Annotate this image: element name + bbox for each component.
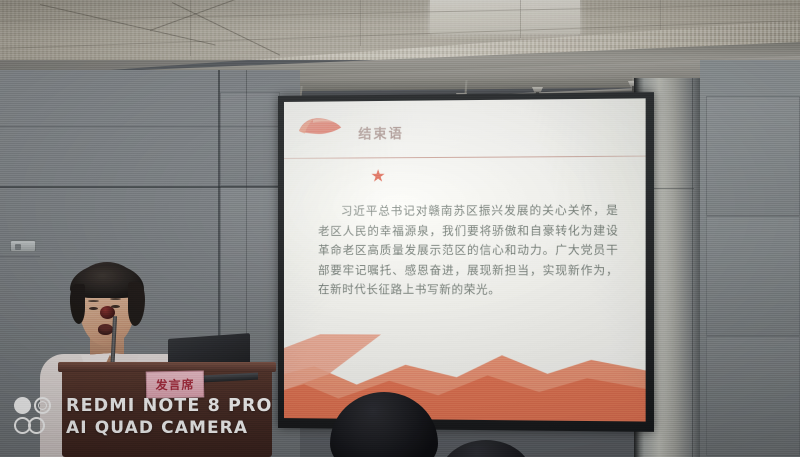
name-plate-text: 发言席: [155, 376, 194, 394]
slide-decoration-mountains: [284, 314, 646, 422]
wall-panel: [706, 336, 800, 456]
wall-seam: [0, 256, 40, 257]
quad-camera-lenses-icon: [14, 397, 56, 439]
speaker-eyebrow-right: [110, 298, 121, 300]
pillar-seam: [692, 78, 693, 457]
speaker-eye-left: [89, 307, 98, 310]
microphone-icon: [100, 306, 115, 319]
slide-paragraph: 习近平总书记对赣南苏区振兴发展的关心关怀，是老区人民的幸福源泉，我们要将骄傲和自…: [318, 201, 618, 301]
speaker-hair-side-left: [70, 284, 85, 324]
ceiling-tile-line: [660, 0, 661, 30]
projection-screen: 结束语 ★ 习近平总书记对赣南苏区振兴发展的关心关怀，是老区人民的幸福源泉，我们…: [284, 98, 646, 421]
wall-panel: [220, 92, 280, 186]
slide-title: 结束语: [358, 123, 404, 142]
speaker-eyebrow-left: [88, 300, 99, 302]
speaker-hair-side-right: [128, 282, 145, 326]
camera-watermark-text: REDMI NOTE 8 PRO AI QUAD CAMERA: [66, 395, 273, 439]
camera-model-label: REDMI NOTE 8 PRO: [66, 395, 273, 417]
pillar-seam: [648, 188, 694, 189]
slide-body-text: 习近平总书记对赣南苏区振兴发展的关心关怀，是老区人民的幸福源泉，我们要将骄傲和自…: [318, 201, 618, 301]
red-star-icon: ★: [370, 167, 387, 184]
wall-panel: [706, 96, 800, 216]
speaker-mouth: [98, 324, 113, 335]
slide-header: 结束语: [284, 98, 646, 158]
audience-head: [440, 440, 532, 457]
camera-watermark: REDMI NOTE 8 PRO AI QUAD CAMERA: [14, 395, 274, 445]
ceiling-tile-line: [360, 0, 361, 46]
ceiling-tile-line: [190, 0, 191, 56]
photograph: 结束语 ★ 习近平总书记对赣南苏区振兴发展的关心关怀，是老区人民的幸福源泉，我们…: [0, 0, 800, 457]
ceiling-tile-line: [520, 0, 521, 38]
camera-feature-label: AI QUAD CAMERA: [66, 417, 273, 439]
wall-panel: [706, 216, 800, 336]
projection-screen-frame: 结束语 ★ 习近平总书记对赣南苏区振兴发展的关心关怀，是老区人民的幸福源泉，我们…: [278, 92, 654, 432]
red-flag-icon: [297, 114, 343, 140]
wall-outlet: [10, 240, 36, 252]
